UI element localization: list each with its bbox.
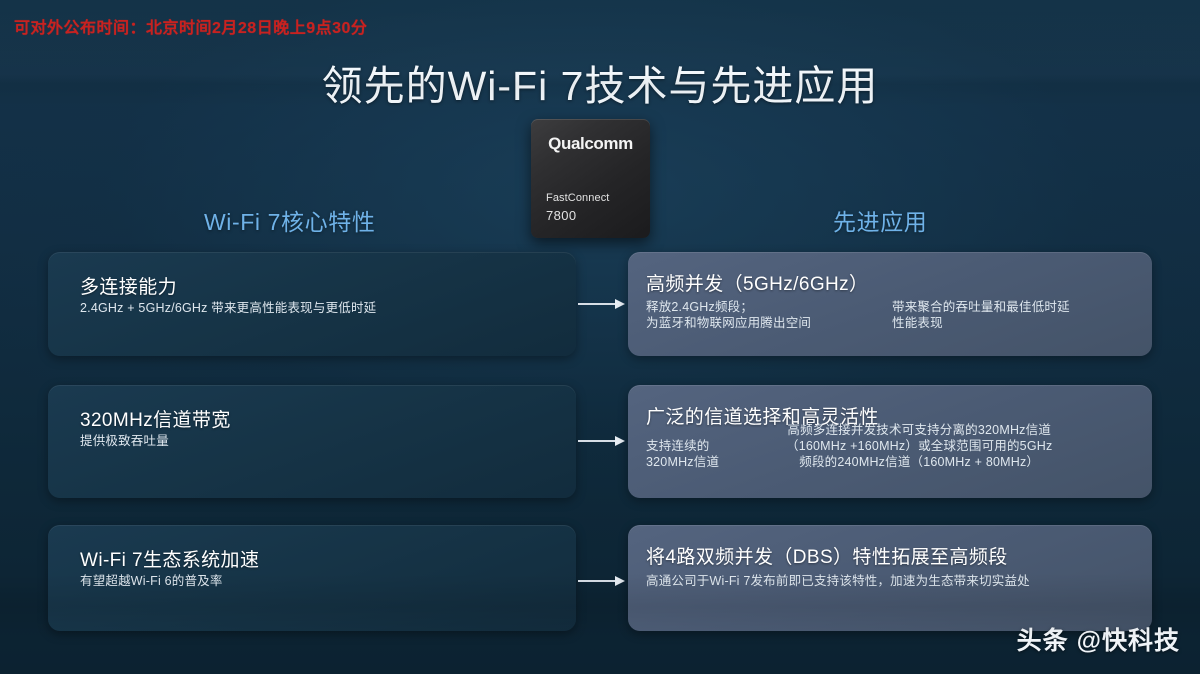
qualcomm-chip-image: Qualcomm FastConnect 7800: [531, 119, 650, 238]
card-subtitle-primary: 释放2.4GHz频段； 为蓝牙和物联网应用腾出空间: [646, 299, 811, 331]
card-subtitle: 2.4GHz + 5GHz/6GHz 带来更高性能表现与更低时延: [80, 300, 376, 316]
chip-product-label: FastConnect: [546, 192, 609, 204]
feature-card-right-1: 高频并发（5GHz/6GHz） 释放2.4GHz频段； 为蓝牙和物联网应用腾出空…: [628, 252, 1152, 356]
chip-model-label: 7800: [546, 208, 577, 223]
page-title: 领先的Wi-Fi 7技术与先进应用: [0, 52, 1200, 112]
card-subtitle: 提供极致吞吐量: [80, 433, 169, 449]
connector-arrow-1: [578, 303, 616, 305]
chip-brand-label: Qualcomm: [531, 134, 650, 154]
watermark: 头条 @快科技: [1017, 621, 1180, 657]
card-subtitle-secondary: 带来聚合的吞吐量和最佳低时延 性能表现: [892, 299, 1070, 331]
card-subtitle-primary: 支持连续的 320MHz信道: [646, 438, 719, 470]
card-title: 将4路双频并发（DBS）特性拓展至高频段: [646, 542, 1008, 569]
card-title: 320MHz信道带宽: [80, 405, 231, 432]
feature-card-right-2: 广泛的信道选择和高灵活性 支持连续的 320MHz信道 高频多连接并发技术可支持…: [628, 385, 1152, 498]
card-subtitle-secondary: 高频多连接并发技术可支持分离的320MHz信道 （160MHz +160MHz）…: [786, 422, 1052, 470]
card-subtitle-primary: 高通公司于Wi-Fi 7发布前即已支持该特性，加速为生态带来切实益处: [646, 573, 1030, 589]
feature-card-left-2: 320MHz信道带宽 提供极致吞吐量: [48, 385, 576, 498]
connector-arrow-2: [578, 440, 616, 442]
card-subtitle: 有望超越Wi-Fi 6的普及率: [80, 573, 223, 589]
feature-card-left-1: 多连接能力 2.4GHz + 5GHz/6GHz 带来更高性能表现与更低时延: [48, 252, 576, 356]
embargo-notice: 可对外公布时间：北京时间2月28日晚上9点30分: [14, 14, 367, 38]
slide-canvas: 可对外公布时间：北京时间2月28日晚上9点30分 领先的Wi-Fi 7技术与先进…: [0, 0, 1200, 674]
feature-card-right-3: 将4路双频并发（DBS）特性拓展至高频段 高通公司于Wi-Fi 7发布前即已支持…: [628, 525, 1152, 631]
column-header-applications: 先进应用: [833, 203, 927, 237]
card-title: 多连接能力: [80, 272, 177, 299]
connector-arrow-3: [578, 580, 616, 582]
feature-card-left-3: Wi-Fi 7生态系统加速 有望超越Wi-Fi 6的普及率: [48, 525, 576, 631]
card-title: 高频并发（5GHz/6GHz）: [646, 269, 868, 296]
card-title: Wi-Fi 7生态系统加速: [80, 545, 259, 572]
column-header-features: Wi-Fi 7核心特性: [204, 203, 375, 237]
